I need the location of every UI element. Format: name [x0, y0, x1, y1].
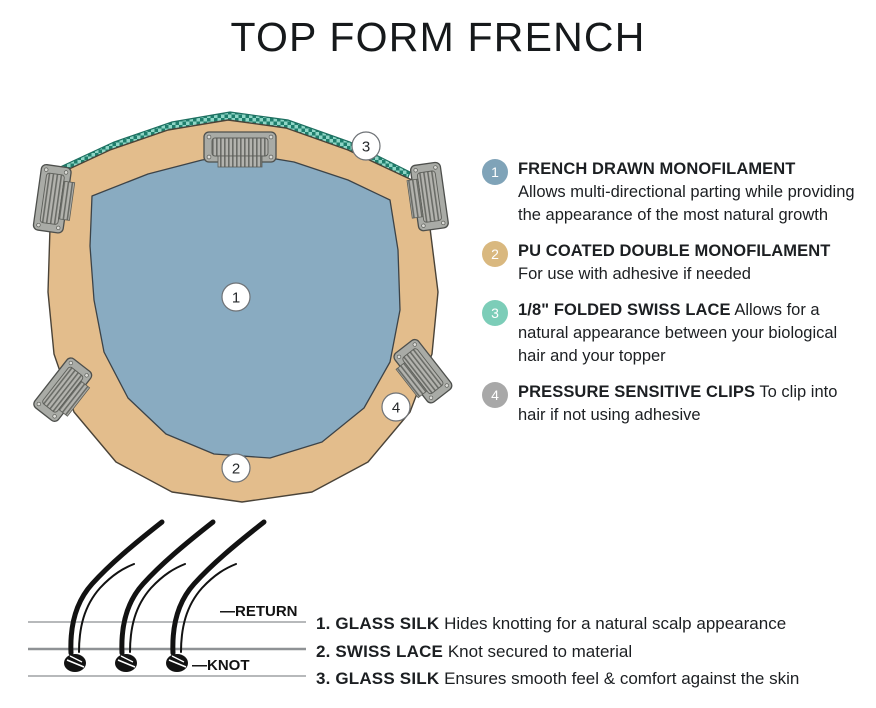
topper-callout-2-label: 2: [232, 461, 240, 478]
bottom-legend-number-1: 1.: [316, 614, 331, 633]
page-root: TOP FORM FRENCH: [0, 0, 876, 708]
bottom-legend-desc-1: Hides knotting for a natural scalp appea…: [444, 614, 786, 633]
legend-title-4: PRESSURE SENSITIVE CLIPS: [518, 383, 755, 401]
bottom-legend-list: 1. GLASS SILK Hides knotting for a natur…: [316, 610, 872, 693]
legend-list: 1 FRENCH DRAWN MONOFILAMENT Allows multi…: [482, 158, 864, 440]
bottom-legend-title-1: GLASS SILK: [335, 614, 439, 633]
bottom-legend-item-3[interactable]: 3. GLASS SILK Ensures smooth feel & comf…: [316, 665, 872, 693]
knot-label-knot: —KNOT: [192, 657, 250, 674]
knot-label-return: —RETURN: [220, 603, 298, 620]
legend-text-3: 1/8" FOLDED SWISS LACE Allows for a natu…: [518, 299, 864, 368]
legend-title-3: 1/8" FOLDED SWISS LACE: [518, 301, 731, 319]
legend-item-3[interactable]: 3 1/8" FOLDED SWISS LACE Allows for a na…: [482, 299, 864, 368]
knot-node-1: [64, 654, 86, 672]
legend-badge-1: 1: [482, 159, 508, 185]
bottom-legend-title-3: GLASS SILK: [335, 669, 439, 688]
legend-item-4[interactable]: 4 PRESSURE SENSITIVE CLIPS To clip into …: [482, 381, 864, 427]
bottom-legend-item-2[interactable]: 2. SWISS LACE Knot secured to material: [316, 638, 872, 666]
topper-callout-3[interactable]: 3: [352, 132, 380, 160]
bottom-legend-desc-2: Knot secured to material: [448, 642, 632, 661]
topper-callout-1[interactable]: 1: [222, 283, 250, 311]
topper-diagram: 1 2 3 4: [18, 104, 466, 506]
page-title: TOP FORM FRENCH: [0, 14, 876, 61]
knot-diagram: —RETURN —KNOT: [16, 512, 334, 698]
legend-title-1: FRENCH DRAWN MONOFILAMENT: [518, 160, 795, 178]
legend-desc-2: For use with adhesive if needed: [518, 265, 751, 283]
topper-callout-4-label: 4: [392, 400, 400, 417]
bottom-legend-title-2: SWISS LACE: [335, 642, 443, 661]
bottom-legend-desc-3: Ensures smooth feel & comfort against th…: [444, 669, 799, 688]
legend-desc-1: Allows multi-directional parting while p…: [518, 183, 855, 224]
legend-badge-2: 2: [482, 241, 508, 267]
legend-badge-4: 4: [482, 382, 508, 408]
legend-text-1: FRENCH DRAWN MONOFILAMENT Allows multi-d…: [518, 158, 864, 227]
knot-node-2: [115, 654, 137, 672]
topper-callout-3-label: 3: [362, 139, 370, 156]
clip-top-center: [204, 132, 276, 167]
legend-item-1[interactable]: 1 FRENCH DRAWN MONOFILAMENT Allows multi…: [482, 158, 864, 227]
knot-node-3: [166, 654, 188, 672]
hair-strand-1: [71, 522, 162, 653]
topper-callout-4[interactable]: 4: [382, 393, 410, 421]
legend-text-2: PU COATED DOUBLE MONOFILAMENT For use wi…: [518, 240, 864, 286]
legend-title-2: PU COATED DOUBLE MONOFILAMENT: [518, 242, 830, 260]
legend-text-4: PRESSURE SENSITIVE CLIPS To clip into ha…: [518, 381, 864, 427]
topper-callout-1-label: 1: [232, 290, 240, 307]
topper-callout-2[interactable]: 2: [222, 454, 250, 482]
bottom-legend-number-3: 3.: [316, 669, 331, 688]
legend-item-2[interactable]: 2 PU COATED DOUBLE MONOFILAMENT For use …: [482, 240, 864, 286]
bottom-legend-item-1[interactable]: 1. GLASS SILK Hides knotting for a natur…: [316, 610, 872, 638]
bottom-legend-number-2: 2.: [316, 642, 331, 661]
legend-badge-3: 3: [482, 300, 508, 326]
